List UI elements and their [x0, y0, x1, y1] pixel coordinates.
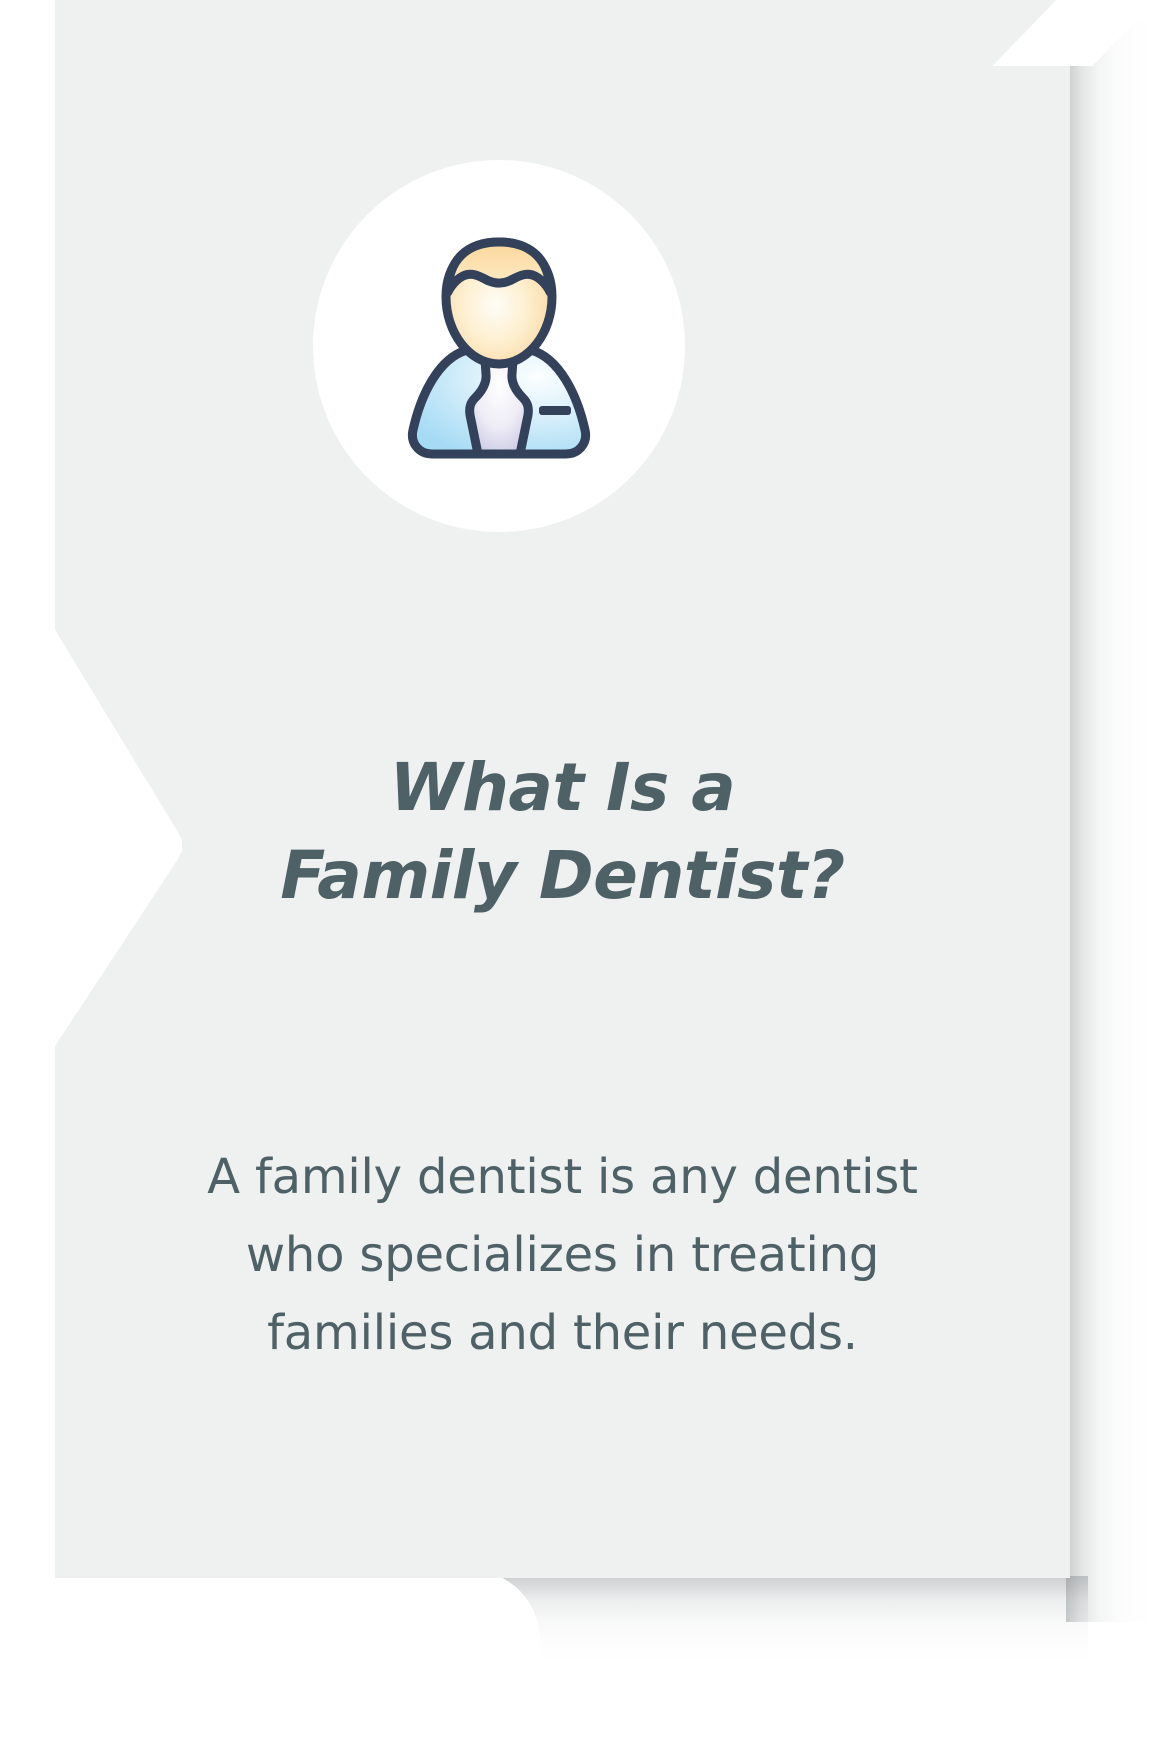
description-line-1: A family dentist is any dentist — [115, 1138, 1010, 1216]
description-line-3: families and their needs. — [115, 1294, 1010, 1372]
description-text: A family dentist is any dentist who spec… — [115, 1138, 1010, 1372]
avatar-pocket-dash — [539, 406, 571, 415]
infographic-card-stage: What Is a Family Dentist? A family denti… — [0, 0, 1152, 1749]
info-card: What Is a Family Dentist? A family denti… — [0, 0, 1070, 1578]
card-bottom-shadow-corner-mask — [470, 1570, 540, 1662]
icon-badge — [313, 160, 685, 532]
page-title-line-1: What Is a — [55, 744, 1070, 832]
dentist-avatar-icon — [399, 234, 599, 462]
page-title: What Is a Family Dentist? — [55, 744, 1070, 920]
card-right-shadow — [1066, 22, 1152, 1622]
card-bottom-shadow — [488, 1576, 1088, 1660]
info-card-content: What Is a Family Dentist? A family denti… — [55, 0, 1070, 1578]
page-title-line-2: Family Dentist? — [55, 832, 1070, 920]
description-line-2: who specializes in treating — [115, 1216, 1010, 1294]
